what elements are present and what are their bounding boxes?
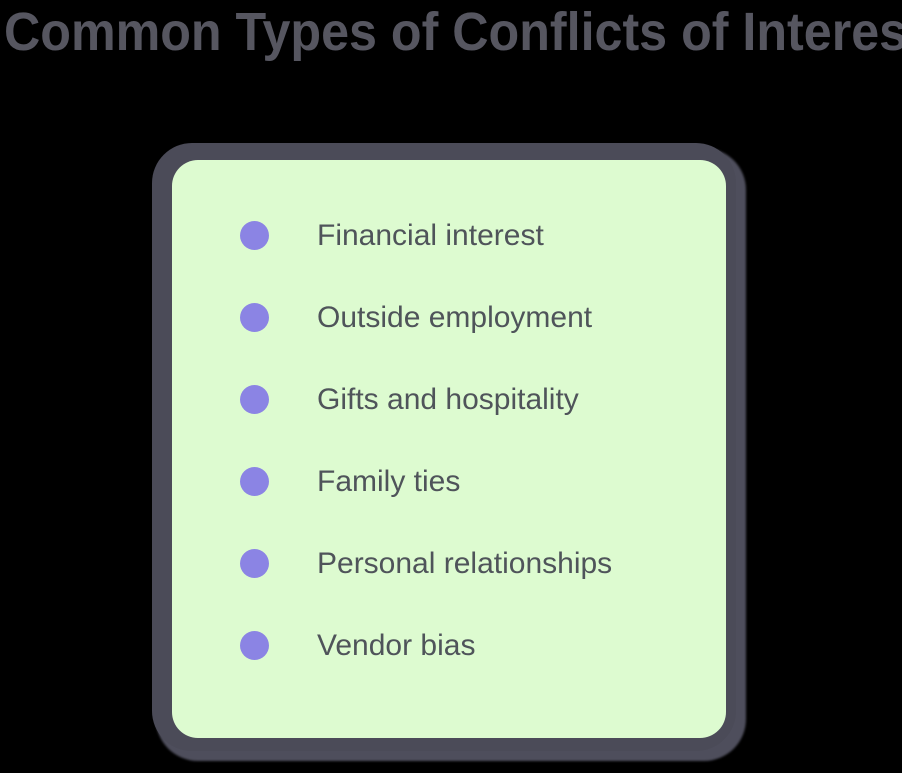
list-item-label: Vendor bias <box>317 627 475 665</box>
conflict-types-list: Financial interest Outside employment Gi… <box>172 215 726 666</box>
list-item: Vendor bias <box>172 625 726 666</box>
list-item: Financial interest <box>172 215 726 256</box>
conflicts-card: Financial interest Outside employment Gi… <box>152 143 746 761</box>
list-item: Gifts and hospitality <box>172 379 726 420</box>
list-item-label: Personal relationships <box>317 545 612 583</box>
list-item-label: Financial interest <box>317 217 544 255</box>
page-title: Common Types of Conflicts of Interest <box>4 2 835 64</box>
bullet-dot-icon <box>240 631 269 660</box>
bullet-dot-icon <box>240 303 269 332</box>
list-item-label: Family ties <box>317 463 460 501</box>
list-item: Family ties <box>172 461 726 502</box>
list-item-label: Outside employment <box>317 299 592 337</box>
bullet-dot-icon <box>240 221 269 250</box>
card-body: Financial interest Outside employment Gi… <box>172 160 726 738</box>
list-item-label: Gifts and hospitality <box>317 381 579 419</box>
bullet-dot-icon <box>240 549 269 578</box>
card-border: Financial interest Outside employment Gi… <box>152 143 736 751</box>
list-item: Outside employment <box>172 297 726 338</box>
list-item: Personal relationships <box>172 543 726 584</box>
bullet-dot-icon <box>240 385 269 414</box>
bullet-dot-icon <box>240 467 269 496</box>
